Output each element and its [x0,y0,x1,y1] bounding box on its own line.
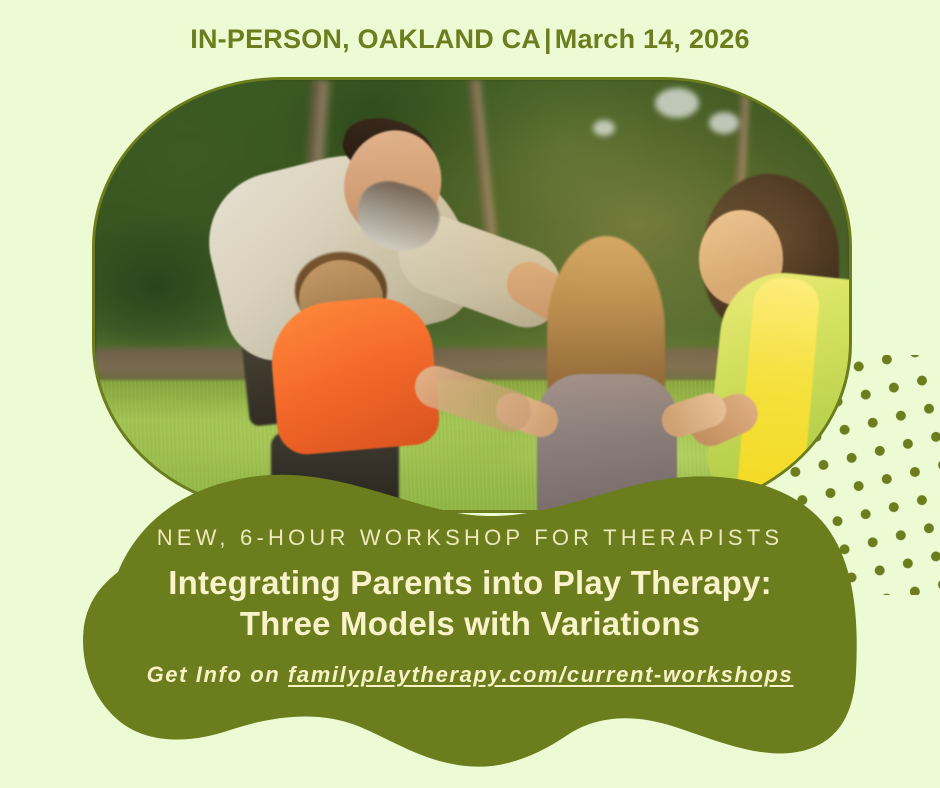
header-date: March 14, 2026 [555,24,750,54]
poster-canvas: IN-PERSON, OAKLAND CA|March 14, 2026 [0,0,940,788]
photo-sky-gap [593,120,615,136]
photo-sky-gap [655,88,699,118]
photo-sky-gap [709,112,739,134]
banner-kicker: NEW, 6-HOUR WORKSHOP FOR THERAPISTS [0,525,940,551]
header-text: IN-PERSON, OAKLAND CA|March 14, 2026 [190,24,749,55]
banner-title-line-2: Three Models with Variations [0,604,940,645]
banner-title-line-1: Integrating Parents into Play Therapy: [0,563,940,604]
header-separator: | [541,24,555,54]
banner-title: Integrating Parents into Play Therapy: T… [0,563,940,644]
banner-text-block: NEW, 6-HOUR WORKSHOP FOR THERAPISTS Inte… [0,525,940,688]
banner-cta-prefix: Get Info on [147,662,288,687]
photo-sky-gap [771,92,797,112]
header-location: IN-PERSON, OAKLAND CA [190,24,541,54]
photo-person-boy-shirt [267,293,441,457]
header-bar: IN-PERSON, OAKLAND CA|March 14, 2026 [0,0,940,78]
banner-cta-url[interactable]: familyplaytherapy.com/current-workshops [288,662,793,687]
banner-cta: Get Info on familyplaytherapy.com/curren… [0,662,940,688]
